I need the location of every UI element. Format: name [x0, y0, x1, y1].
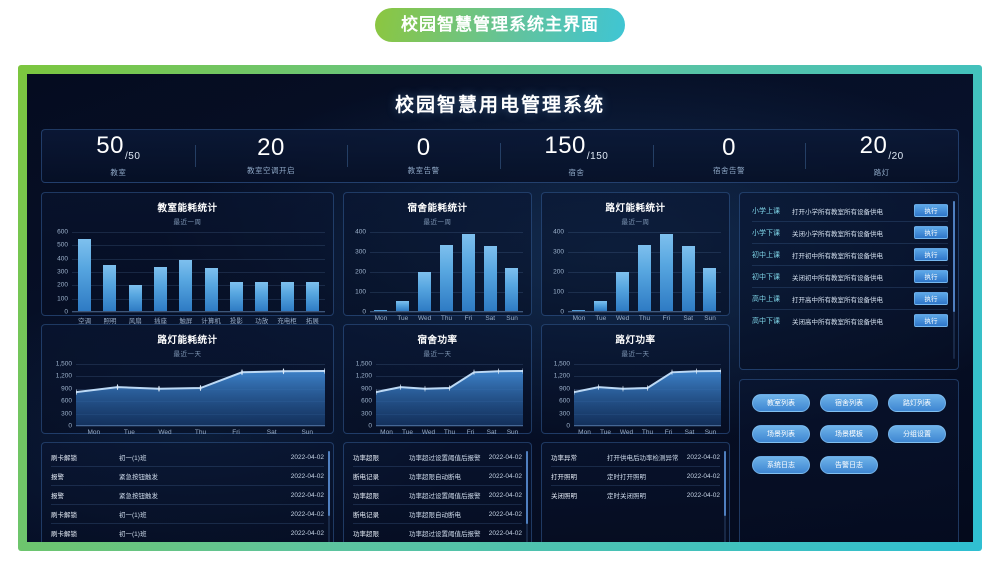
log-type: 功率超限: [353, 528, 409, 538]
y-tick: 1,200: [554, 373, 574, 380]
kpi-suffix: /150: [587, 151, 608, 162]
x-tick: Wed: [612, 315, 634, 322]
log-type: 刷卡解锁: [51, 528, 113, 538]
nav-button-教室列表[interactable]: 教室列表: [752, 394, 810, 412]
log-date: 2022-04-02: [489, 530, 522, 537]
x-tick: Tue: [595, 429, 616, 436]
kpi-label: 宿舍告警: [713, 165, 745, 176]
chart-title: 路灯能耗统计: [42, 325, 333, 346]
x-tick: Fri: [457, 315, 479, 322]
log-type: 断电记录: [353, 471, 409, 481]
table-dorm-logs: 功率超限功率超过设置阈值后报警2022-04-02断电记录功率超限自动断电202…: [344, 443, 531, 542]
x-tick: Tue: [590, 315, 612, 322]
kpi-1: 20教室空调开启: [195, 136, 348, 176]
panel-dorm-logs: 功率超限功率超过设置阈值后报警2022-04-02断电记录功率超限自动断电202…: [343, 442, 532, 542]
chart-streetlight-power-day: 03006009001,2001,500MonTueWedThuFriSatSu…: [574, 364, 721, 436]
bar: [396, 301, 409, 311]
x-tick: Tue: [397, 429, 418, 436]
scene-description: 打开小学所有教室所有设备供电: [792, 206, 914, 216]
dashboard-body: 教室能耗统计 最近一周 0100200300400500600空调照明风扇插座触…: [27, 192, 973, 542]
bar: [440, 245, 453, 311]
y-tick: 600: [559, 398, 574, 405]
bar: [179, 260, 192, 311]
scene-row: 小学上课打开小学所有教室所有设备供电执行: [752, 200, 948, 222]
log-date: 2022-04-02: [291, 530, 324, 537]
log-type: 断电记录: [353, 509, 409, 519]
chart-subtitle: 最近一天: [42, 346, 333, 358]
scene-row: 初中下课关闭初中所有教室所有设备供电执行: [752, 266, 948, 288]
chart-title: 宿舍能耗统计: [344, 193, 531, 214]
nav-button-grid: 教室列表宿舍列表路灯列表场景列表场景模板分组设置系统日志告警日志: [752, 394, 946, 474]
log-detail: 功率超过设置阈值后报警: [409, 452, 489, 462]
scene-description: 关闭初中所有教室所有设备供电: [792, 272, 914, 282]
bar: [154, 267, 167, 311]
log-date: 2022-04-02: [687, 454, 720, 461]
x-tick: Sun: [501, 315, 523, 322]
dashboard-frame: 校园智慧用电管理系统 50/50教室20教室空调开启0教室告警150/150宿舍…: [18, 65, 982, 551]
log-detail: 初一(1)班: [113, 452, 291, 462]
chart-dorm-power-day: 03006009001,2001,500MonTueWedThuFriSatSu…: [376, 364, 523, 436]
y-tick: 900: [361, 385, 376, 392]
kpi-2: 0教室告警: [347, 136, 500, 176]
scrollbar[interactable]: [328, 451, 330, 542]
x-tick: Sat: [479, 315, 501, 322]
scene-name: 初中下课: [752, 272, 792, 282]
y-tick: 0: [362, 309, 370, 316]
nav-button-系统日志[interactable]: 系统日志: [752, 456, 810, 474]
log-date: 2022-04-02: [291, 492, 324, 499]
scene-description: 关闭高中所有教室所有设备供电: [792, 316, 914, 326]
table-classroom-logs: 刷卡解锁初一(1)班2022-04-02报警紧急按钮触发2022-04-02报警…: [42, 443, 333, 542]
chart-title: 教室能耗统计: [42, 193, 333, 214]
kpi-3: 150/150宿舍: [500, 134, 653, 178]
nav-button-宿舍列表[interactable]: 宿舍列表: [820, 394, 878, 412]
plot-area: 0100200300400: [568, 232, 721, 312]
page-title: 校园智慧用电管理系统: [27, 74, 973, 129]
log-detail: 功率超过设置阈值后报警: [409, 490, 489, 500]
bar: [129, 285, 142, 311]
bar: [78, 239, 91, 311]
log-detail: 定时关闭照明: [607, 490, 687, 500]
chart-subtitle: 最近一天: [344, 346, 531, 358]
chart-subtitle: 最近一周: [42, 214, 333, 226]
log-type: 功率超限: [353, 490, 409, 500]
y-tick: 200: [355, 269, 370, 276]
log-type: 刷卡解锁: [51, 509, 113, 519]
bar: [374, 310, 387, 311]
plot-area: 0100200300400500600: [72, 232, 325, 312]
kpi-value: 20/20: [860, 134, 904, 162]
table-row[interactable]: 断电记录功率超限自动断电2022-04-02: [353, 467, 522, 486]
table-row[interactable]: 关闭照明定时关闭照明2022-04-02: [551, 486, 720, 504]
panel-dorm-energy: 宿舍能耗统计 最近一周 0100200300400MonTueWedThuFri…: [343, 192, 532, 316]
kpi-value: 20: [257, 136, 285, 160]
y-tick: 0: [68, 423, 76, 430]
column-streetlight: 路灯能耗统计 最近一周 0100200300400MonTueWedThuFri…: [541, 192, 730, 542]
chart-subtitle: 最近一周: [542, 214, 729, 226]
y-tick: 600: [61, 398, 76, 405]
bar: [484, 246, 497, 311]
nav-button-场景模板[interactable]: 场景模板: [820, 425, 878, 443]
screenshot-root: 校园智慧管理系统主界面 校园智慧用电管理系统 50/50教室20教室空调开启0教…: [0, 0, 1000, 566]
y-tick: 1,500: [56, 361, 76, 368]
y-tick: 0: [566, 423, 574, 430]
kpi-5: 20/20路灯: [805, 134, 958, 178]
bar: [306, 282, 319, 311]
bar: [281, 282, 294, 311]
panel-streetlight-power-day: 路灯功率 最近一天 03006009001,2001,500MonTueWedT…: [541, 324, 730, 434]
y-tick: 1,500: [356, 361, 376, 368]
dashboard-screen: 校园智慧用电管理系统 50/50教室20教室空调开启0教室告警150/150宿舍…: [27, 74, 973, 542]
x-tick: Sun: [289, 429, 325, 436]
execute-button[interactable]: 执行: [914, 204, 948, 217]
log-detail: 紧急按钮触发: [113, 490, 291, 500]
log-type: 功率超限: [353, 452, 409, 462]
scene-row: 初中上课打开初中所有教室所有设备供电执行: [752, 244, 948, 266]
execute-button[interactable]: 执行: [914, 270, 948, 283]
bar: [103, 265, 116, 311]
y-tick: 100: [355, 289, 370, 296]
panel-streetlight-logs: 功率异常打开供电后功率检测异常2022-04-02打开照明定时打开照明2022-…: [541, 442, 730, 542]
log-detail: 功率超限自动断电: [409, 471, 489, 481]
x-tick: Mon: [76, 429, 112, 436]
x-axis-labels: MonTueWedThuFriSatSun: [76, 429, 325, 436]
chart-title: 路灯功率: [542, 325, 729, 346]
table-row[interactable]: 打开照明定时打开照明2022-04-02: [551, 467, 720, 486]
y-tick: 900: [559, 385, 574, 392]
y-tick: 200: [553, 269, 568, 276]
scene-name: 高中下课: [752, 316, 792, 326]
x-tick: Tue: [112, 429, 148, 436]
chart-dorm-energy: 0100200300400MonTueWedThuFriSatSun: [370, 232, 523, 322]
x-tick: Sat: [677, 315, 699, 322]
scene-description: 关闭小学所有教室所有设备供电: [792, 228, 914, 238]
y-tick: 300: [361, 410, 376, 417]
log-date: 2022-04-02: [489, 454, 522, 461]
y-tick: 1,500: [554, 361, 574, 368]
plot-area: 03006009001,2001,500: [376, 364, 523, 426]
table-row[interactable]: 功率超限功率超过设置阈值后报警2022-04-02: [353, 524, 522, 542]
plot-area: 0100200300400: [370, 232, 523, 312]
bar: [682, 246, 695, 311]
panel-dorm-power-day: 宿舍功率 最近一天 03006009001,2001,500MonTueWedT…: [343, 324, 532, 434]
nav-row: 场景列表场景模板分组设置: [752, 425, 946, 443]
y-tick: 400: [553, 229, 568, 236]
column-controls: 小学上课打开小学所有教室所有设备供电执行小学下课关闭小学所有教室所有设备供电执行…: [739, 192, 959, 542]
panel-nav-buttons: 教室列表宿舍列表路灯列表场景列表场景模板分组设置系统日志告警日志: [739, 379, 959, 542]
log-detail: 初一(1)班: [113, 528, 291, 538]
panel-streetlight-energy-day: 路灯能耗统计 最近一天 03006009001,2001,500MonTueWe…: [41, 324, 334, 434]
scrollbar[interactable]: [526, 451, 528, 542]
kpi-bar: 50/50教室20教室空调开启0教室告警150/150宿舍0宿舍告警20/20路…: [41, 129, 959, 183]
scene-row: 小学下课关闭小学所有教室所有设备供电执行: [752, 222, 948, 244]
x-tick: Wed: [418, 429, 439, 436]
scrollbar[interactable]: [953, 201, 955, 359]
bar: [418, 272, 431, 312]
kpi-label: 宿舍: [568, 167, 584, 178]
log-detail: 功率超过设置阈值后报警: [409, 528, 489, 538]
x-axis-labels: MonTueWedThuFriSatSun: [568, 315, 721, 322]
log-date: 2022-04-02: [489, 492, 522, 499]
log-type: 报警: [51, 490, 113, 500]
table-row[interactable]: 报警紧急按钮触发2022-04-02: [51, 486, 324, 505]
scene-row: 高中下课关闭高中所有教室所有设备供电执行: [752, 310, 948, 331]
scrollbar[interactable]: [724, 451, 726, 542]
chart-subtitle: 最近一天: [542, 346, 729, 358]
scene-name: 小学上课: [752, 206, 792, 216]
scene-name: 高中上课: [752, 294, 792, 304]
nav-row: 教室列表宿舍列表路灯列表: [752, 394, 946, 412]
log-type: 功率异常: [551, 452, 607, 462]
table-row[interactable]: 功率超限功率超过设置阈值后报警2022-04-02: [353, 486, 522, 505]
y-tick: 300: [61, 410, 76, 417]
area-series: [76, 364, 325, 426]
log-detail: 打开供电后功率检测异常: [607, 452, 687, 462]
y-tick: 200: [57, 282, 72, 289]
log-detail: 功率超限自动断电: [409, 509, 489, 519]
log-type: 刷卡解锁: [51, 452, 113, 462]
plot-area: 03006009001,2001,500: [76, 364, 325, 426]
execute-button[interactable]: 执行: [914, 314, 948, 327]
execute-button[interactable]: 执行: [914, 248, 948, 261]
y-tick: 100: [553, 289, 568, 296]
log-type: 关闭照明: [551, 490, 607, 500]
y-tick: 0: [64, 309, 72, 316]
x-tick: Sun: [700, 429, 721, 436]
chart-streetlight-energy: 0100200300400MonTueWedThuFriSatSun: [568, 232, 721, 322]
scene-name: 初中上课: [752, 250, 792, 260]
table-row[interactable]: 功率超限功率超过设置阈值后报警2022-04-02: [353, 448, 522, 467]
x-tick: Fri: [460, 429, 481, 436]
chart-streetlight-energy-day: 03006009001,2001,500MonTueWedThuFriSatSu…: [76, 364, 325, 436]
chart-title: 宿舍功率: [344, 325, 531, 346]
x-axis-labels: MonTueWedThuFriSatSun: [574, 429, 721, 436]
log-date: 2022-04-02: [291, 473, 324, 480]
log-type: 报警: [51, 471, 113, 481]
log-date: 2022-04-02: [291, 511, 324, 518]
log-date: 2022-04-02: [489, 511, 522, 518]
x-tick: Thu: [439, 429, 460, 436]
x-tick: Thu: [634, 315, 656, 322]
title-badge-wrap: 校园智慧管理系统主界面: [0, 8, 1000, 42]
bar-series: [370, 232, 523, 311]
column-classroom: 教室能耗统计 最近一周 0100200300400500600空调照明风扇插座触…: [41, 192, 334, 542]
bar: [594, 301, 607, 311]
bar: [230, 282, 243, 311]
x-tick: Mon: [574, 429, 595, 436]
title-badge: 校园智慧管理系统主界面: [375, 8, 625, 42]
table-row[interactable]: 断电记录功率超限自动断电2022-04-02: [353, 505, 522, 524]
panel-classroom-logs: 刷卡解锁初一(1)班2022-04-02报警紧急按钮触发2022-04-02报警…: [41, 442, 334, 542]
bar: [505, 268, 518, 311]
x-tick: Sun: [699, 315, 721, 322]
log-date: 2022-04-02: [291, 454, 324, 461]
chart-title: 路灯能耗统计: [542, 193, 729, 214]
x-tick: Sat: [679, 429, 700, 436]
y-tick: 300: [57, 269, 72, 276]
x-tick: Fri: [658, 429, 679, 436]
x-tick: Tue: [392, 315, 414, 322]
plot-area: 03006009001,2001,500: [574, 364, 721, 426]
y-tick: 1,200: [356, 373, 376, 380]
y-tick: 600: [361, 398, 376, 405]
bar: [572, 310, 585, 311]
table-row[interactable]: 刷卡解锁初一(1)班2022-04-02: [51, 448, 324, 467]
kpi-label: 路灯: [874, 167, 890, 178]
log-type: 打开照明: [551, 471, 607, 481]
chart-subtitle: 最近一周: [344, 214, 531, 226]
y-tick: 100: [57, 295, 72, 302]
x-tick: Mon: [370, 315, 392, 322]
log-detail: 定时打开照明: [607, 471, 687, 481]
execute-button[interactable]: 执行: [914, 292, 948, 305]
y-tick: 1,200: [56, 373, 76, 380]
area-series: [574, 364, 721, 426]
scene-name: 小学下课: [752, 228, 792, 238]
kpi-label: 教室告警: [408, 165, 440, 176]
bar-series: [72, 232, 325, 311]
x-axis-labels: MonTueWedThuFriSatSun: [370, 315, 523, 322]
x-tick: Mon: [376, 429, 397, 436]
log-detail: 紧急按钮触发: [113, 471, 291, 481]
bar: [703, 268, 716, 311]
nav-button-分组设置[interactable]: 分组设置: [888, 425, 946, 443]
y-tick: 400: [57, 255, 72, 262]
area-series: [376, 364, 523, 426]
kpi-suffix: /20: [888, 151, 903, 162]
log-detail: 初一(1)班: [113, 509, 291, 519]
bar: [255, 282, 268, 311]
kpi-value: 150/150: [544, 134, 608, 162]
nav-button-告警日志[interactable]: 告警日志: [820, 456, 878, 474]
bar: [660, 234, 673, 311]
nav-button-路灯列表[interactable]: 路灯列表: [888, 394, 946, 412]
scene-description: 打开高中所有教室所有设备供电: [792, 294, 914, 304]
kpi-value: 50/50: [96, 134, 140, 162]
x-tick: Fri: [655, 315, 677, 322]
column-dorm: 宿舍能耗统计 最近一周 0100200300400MonTueWedThuFri…: [343, 192, 532, 542]
table-row[interactable]: 功率异常打开供电后功率检测异常2022-04-02: [551, 448, 720, 467]
table-row[interactable]: 刷卡解锁初一(1)班2022-04-02: [51, 505, 324, 524]
bar: [462, 234, 475, 311]
table-row[interactable]: 刷卡解锁初一(1)班2022-04-02: [51, 524, 324, 542]
y-tick: 0: [560, 309, 568, 316]
kpi-label: 教室: [110, 167, 126, 178]
y-tick: 600: [57, 229, 72, 236]
chart-classroom-energy: 0100200300400500600空调照明风扇插座触屏计算机投影功放充电柜拓…: [72, 232, 325, 325]
nav-row: 系统日志告警日志: [752, 456, 946, 474]
panel-streetlight-energy: 路灯能耗统计 最近一周 0100200300400MonTueWedThuFri…: [541, 192, 730, 316]
nav-button-场景列表[interactable]: 场景列表: [752, 425, 810, 443]
x-tick: Thu: [436, 315, 458, 322]
table-row[interactable]: 报警紧急按钮触发2022-04-02: [51, 467, 324, 486]
bar: [205, 268, 218, 311]
kpi-value: 0: [722, 136, 736, 160]
x-tick: Fri: [218, 429, 254, 436]
x-tick: Sat: [254, 429, 290, 436]
kpi-4: 0宿舍告警: [653, 136, 806, 176]
kpi-suffix: /50: [125, 151, 140, 162]
y-tick: 300: [355, 249, 370, 256]
kpi-label: 教室空调开启: [247, 165, 295, 176]
panel-scene-list: 小学上课打开小学所有教室所有设备供电执行小学下课关闭小学所有教室所有设备供电执行…: [739, 192, 959, 370]
table-streetlight-logs: 功率异常打开供电后功率检测异常2022-04-02打开照明定时打开照明2022-…: [542, 443, 729, 508]
x-tick: Thu: [183, 429, 219, 436]
y-tick: 500: [57, 242, 72, 249]
x-tick: Sat: [481, 429, 502, 436]
kpi-value: 0: [417, 136, 431, 160]
y-tick: 0: [368, 423, 376, 430]
bar-series: [568, 232, 721, 311]
kpi-0: 50/50教室: [42, 134, 195, 178]
y-tick: 300: [553, 249, 568, 256]
log-date: 2022-04-02: [687, 473, 720, 480]
x-tick: Mon: [568, 315, 590, 322]
x-tick: Wed: [616, 429, 637, 436]
execute-button[interactable]: 执行: [914, 226, 948, 239]
x-tick: Thu: [637, 429, 658, 436]
log-date: 2022-04-02: [687, 492, 720, 499]
scene-row: 高中上课打开高中所有教室所有设备供电执行: [752, 288, 948, 310]
y-tick: 900: [61, 385, 76, 392]
scene-list: 小学上课打开小学所有教室所有设备供电执行小学下课关闭小学所有教室所有设备供电执行…: [752, 200, 948, 331]
log-date: 2022-04-02: [489, 473, 522, 480]
x-tick: Sun: [502, 429, 523, 436]
x-axis-labels: MonTueWedThuFriSatSun: [376, 429, 523, 436]
y-tick: 400: [355, 229, 370, 236]
scene-description: 打开初中所有教室所有设备供电: [792, 250, 914, 260]
panel-classroom-energy: 教室能耗统计 最近一周 0100200300400500600空调照明风扇插座触…: [41, 192, 334, 316]
x-tick: Wed: [147, 429, 183, 436]
bar: [638, 245, 651, 311]
x-tick: Wed: [414, 315, 436, 322]
y-tick: 300: [559, 410, 574, 417]
bar: [616, 272, 629, 312]
